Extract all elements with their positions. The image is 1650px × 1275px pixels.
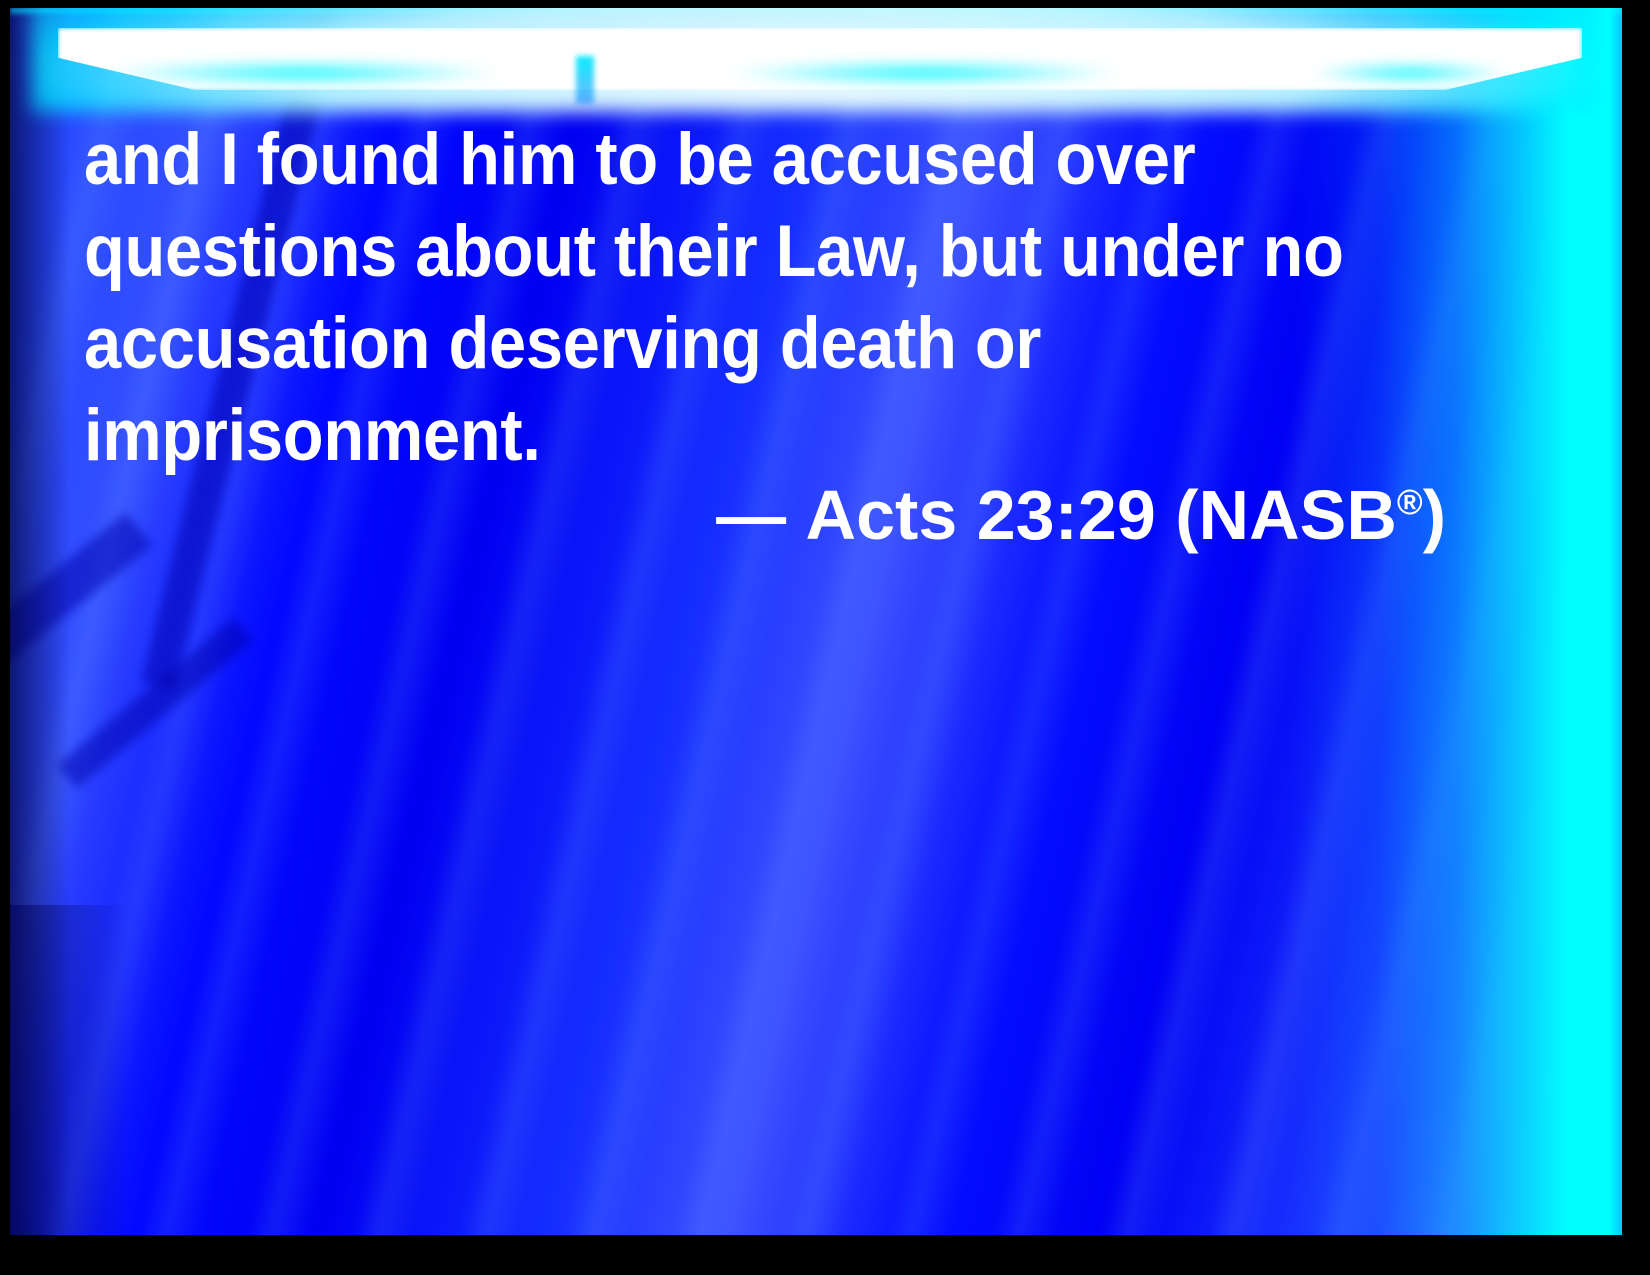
verse-text: and I found him to be accused over quest… [84,114,1365,482]
attribution-reference: Acts 23:29 [806,476,1156,554]
text-layer: and I found him to be accused over quest… [10,8,1622,1235]
attribution-dash: — [716,476,786,554]
slide-canvas: and I found him to be accused over quest… [10,8,1622,1235]
bible-verse-slide: and I found him to be accused over quest… [0,0,1650,1275]
verse-attribution: — Acts 23:29 (NASB®) [716,460,1446,558]
registered-trademark-icon: ® [1397,483,1423,522]
attribution-translation: NASB [1199,476,1397,554]
attribution-close-paren: ) [1423,476,1446,554]
attribution-open-paren: ( [1156,476,1199,554]
